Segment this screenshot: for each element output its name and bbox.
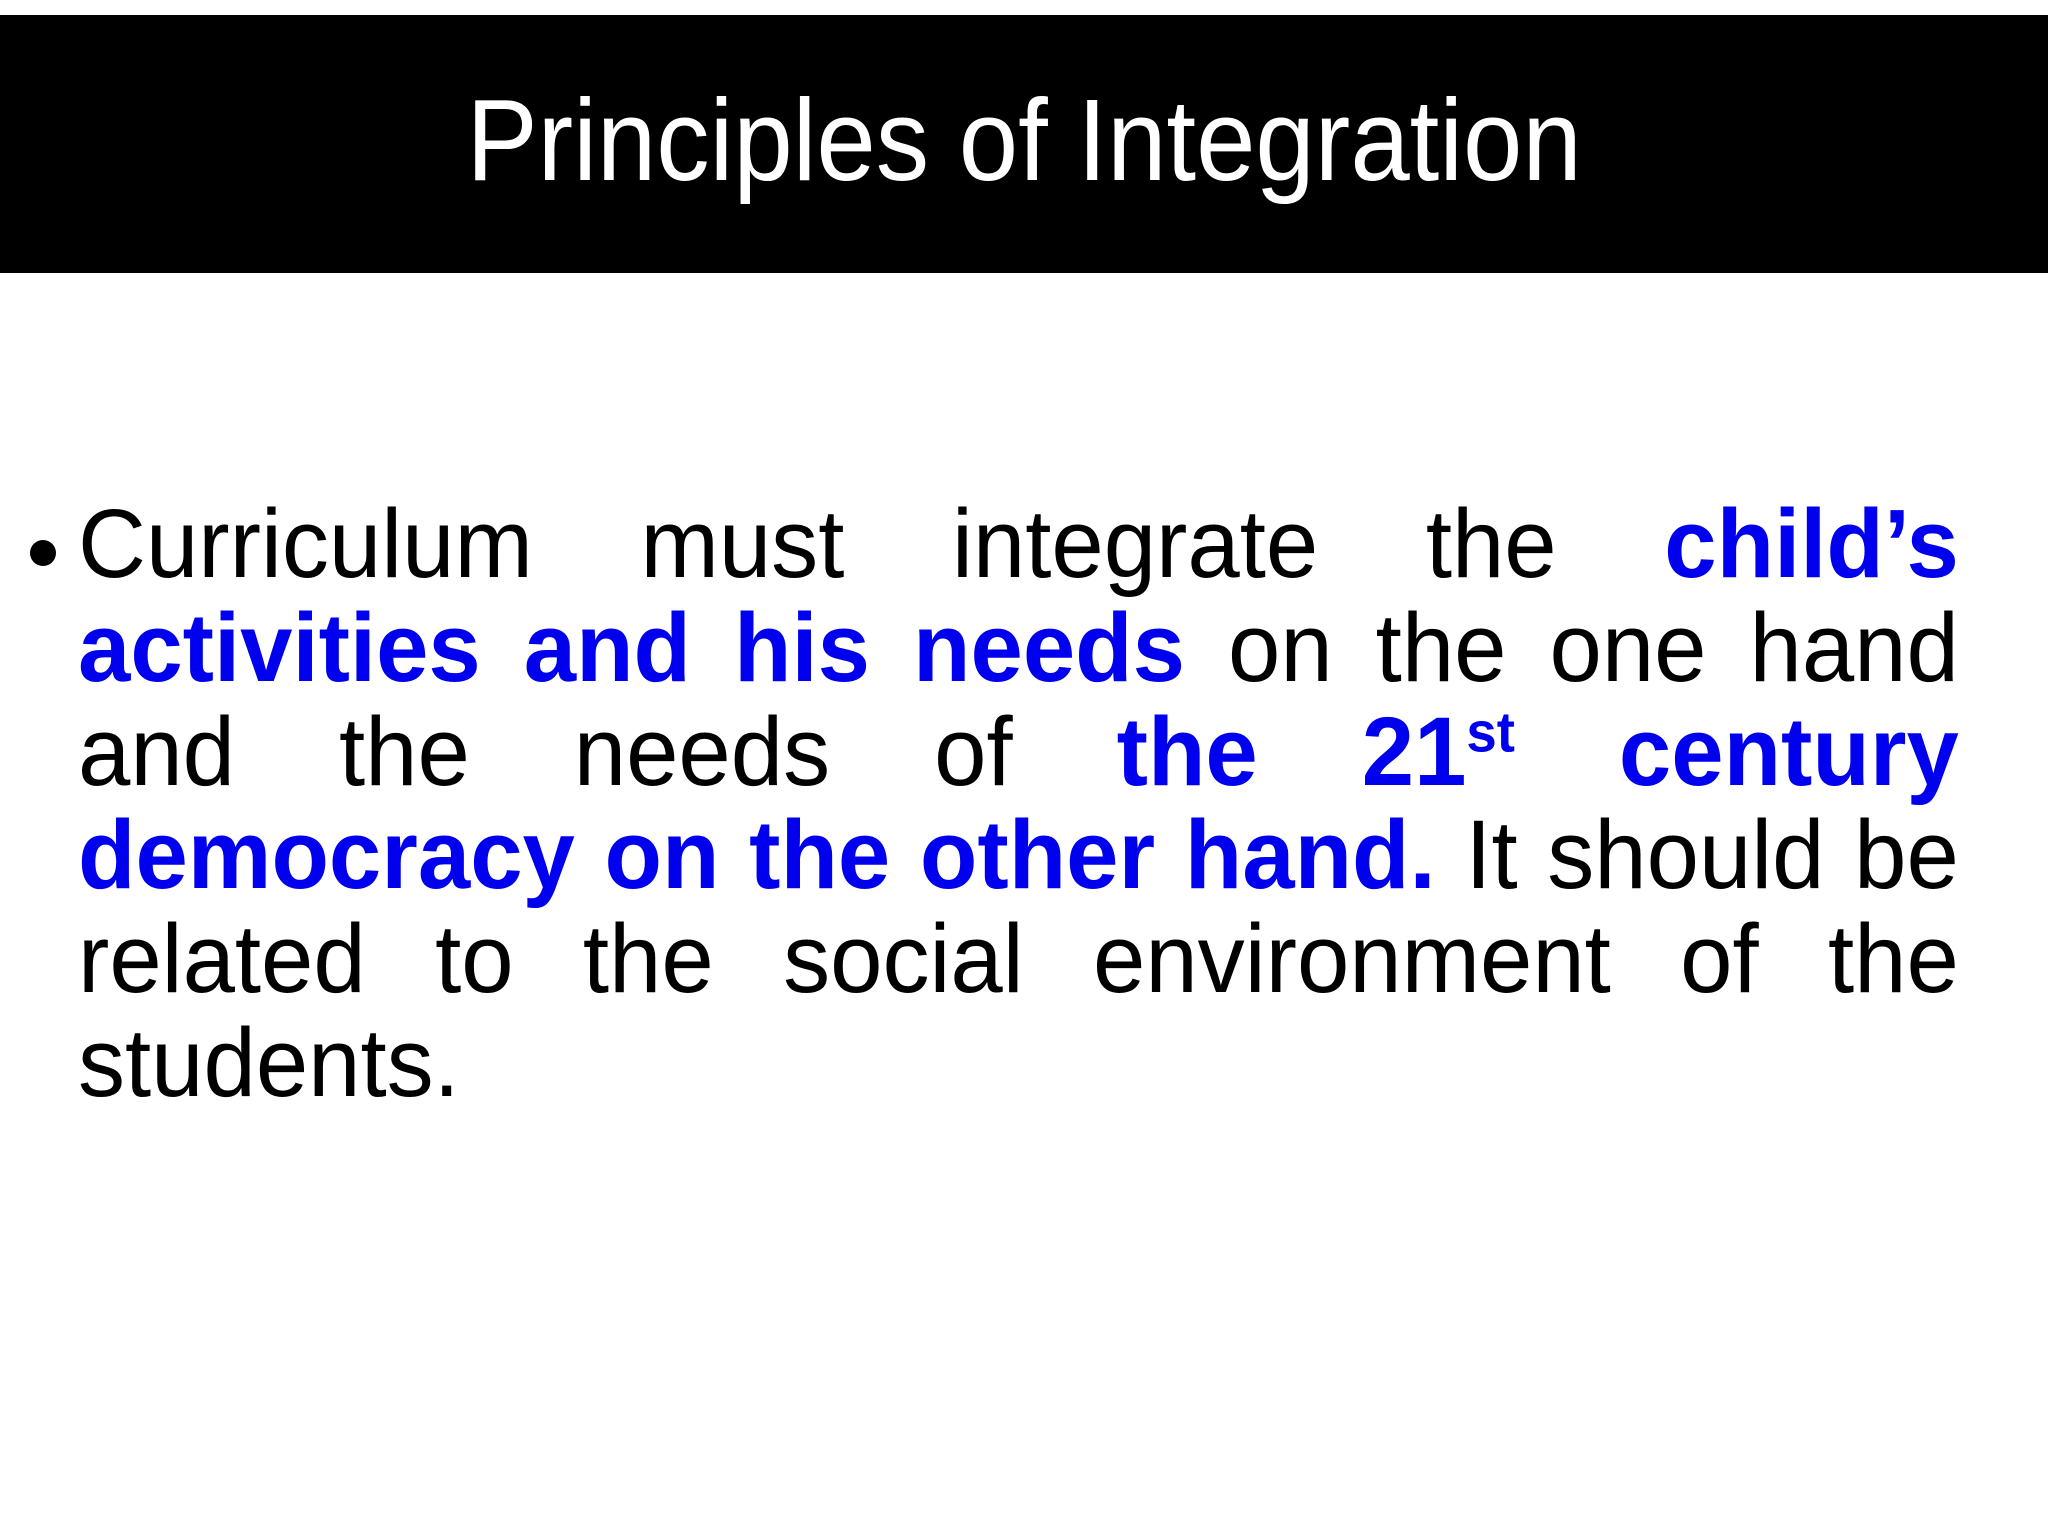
bullet-list-item: Curriculum must integrate the child’s ac… [22, 492, 2017, 1218]
bullet-point-icon [30, 540, 56, 566]
presentation-slide: Principles of Integration Curriculum mus… [0, 0, 2048, 1536]
ordinal-superscript-st: st [1466, 700, 1515, 763]
paragraph-segment-4-highlight: the 21 [1117, 697, 1467, 806]
slide-title-bar: Principles of Integration [0, 15, 2048, 273]
slide-body: Curriculum must integrate the child’s ac… [22, 395, 2017, 1315]
slide-title: Principles of Integration [466, 82, 1581, 206]
paragraph-segment-1: Curriculum must integrate the [78, 489, 1664, 598]
bullet-paragraph: Curriculum must integrate the child’s ac… [78, 492, 1959, 1218]
